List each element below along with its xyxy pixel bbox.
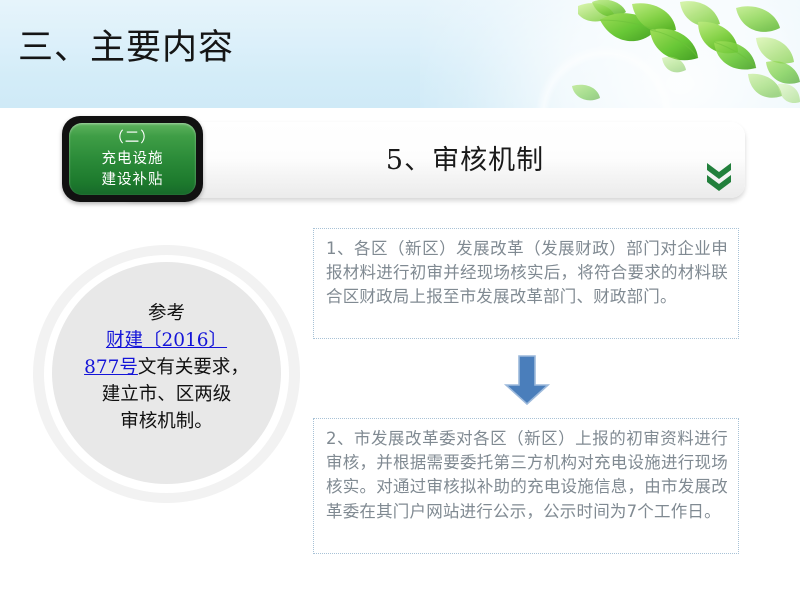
badge-line-2: 充电设施 — [102, 149, 164, 170]
reference-line-3: 877号文有关要求， — [52, 354, 281, 381]
reference-rest: 文有关要求， — [138, 357, 249, 378]
badge-line-3: 建设补贴 — [102, 170, 164, 191]
reference-label: 参考 — [52, 300, 281, 327]
reference-circle-text: 参考 财建〔2016〕 877号文有关要求， 建立市、区两级 审核机制。 — [52, 300, 281, 435]
arrow-down-icon — [503, 355, 551, 405]
header-glow — [420, 0, 800, 108]
flow-step-2-box: 2、市发展改革委对各区（新区）上报的初审资料进行审核，并根据需要委托第三方机构对… — [313, 418, 739, 554]
doc-link-part1[interactable]: 财建〔2016〕 — [106, 330, 227, 351]
flow-step-1-box: 1、各区（新区）发展改革（发展财政）部门对企业申报材料进行初审并经现场核实后，将… — [313, 228, 739, 339]
page-title: 三、主要内容 — [18, 26, 234, 70]
section-title-text: 5、审核机制 — [215, 144, 715, 178]
double-chevron-down-icon[interactable] — [704, 160, 734, 192]
section-badge[interactable]: （二） 充电设施 建设补贴 — [62, 116, 203, 202]
flow-step-1-text: 1、各区（新区）发展改革（发展财政）部门对企业申报材料进行初审并经现场核实后，将… — [326, 237, 728, 310]
reference-line-5: 审核机制。 — [52, 408, 281, 435]
leaves-icon — [570, 0, 800, 108]
doc-link-part2[interactable]: 877号 — [84, 357, 138, 378]
badge-line-1: （二） — [109, 128, 156, 149]
header-halo-circle — [530, 40, 680, 108]
reference-line-2: 财建〔2016〕 — [52, 327, 281, 354]
section-badge-inner: （二） 充电设施 建设补贴 — [69, 123, 196, 195]
slide-canvas: 三、主要内容 5、审核机制 （二） 充电设施 建设补贴 参考 财建〔2016〕 … — [0, 0, 800, 600]
slide-header: 三、主要内容 — [0, 0, 800, 108]
reference-line-4: 建立市、区两级 — [52, 381, 281, 408]
flow-step-2-text: 2、市发展改革委对各区（新区）上报的初审资料进行审核，并根据需要委托第三方机构对… — [326, 427, 728, 524]
